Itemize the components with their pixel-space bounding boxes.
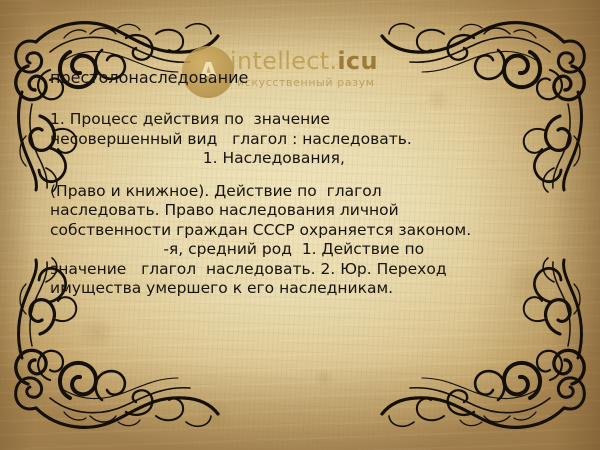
- parchment-page: A intellect.icu искусственный разум прес…: [0, 0, 600, 450]
- entry-sense: (Право и книжное). Действие по глагол на…: [50, 182, 558, 299]
- entry-sense: 1. Процесс действия по значение несоверш…: [50, 110, 558, 169]
- entry-headword: престолонаследование: [50, 68, 558, 88]
- dictionary-entry: престолонаследование 1. Процесс действия…: [50, 68, 558, 299]
